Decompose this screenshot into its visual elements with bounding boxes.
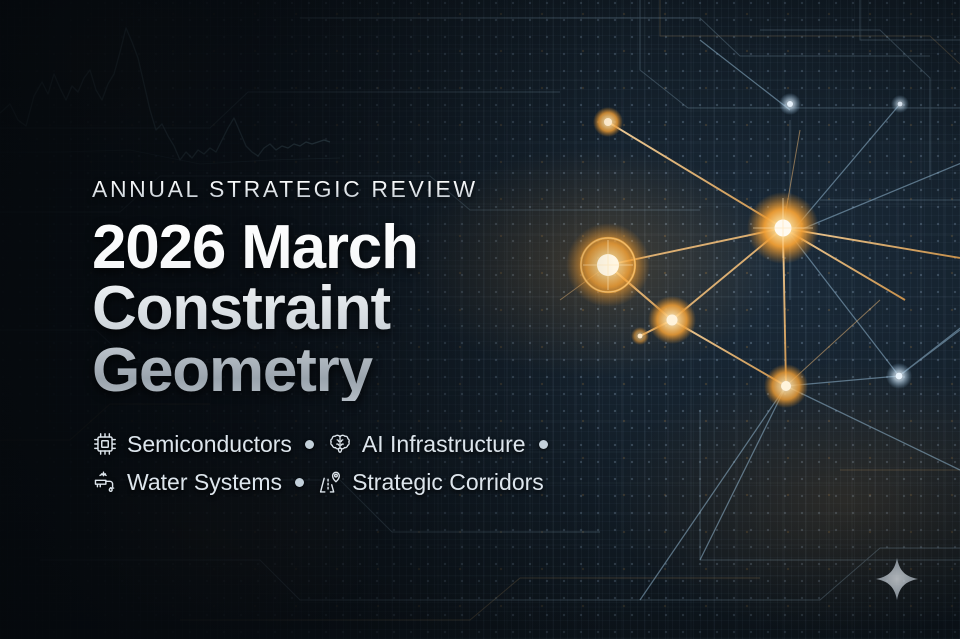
microchip-icon [92, 431, 118, 457]
road-pin-icon [317, 469, 343, 495]
faucet-icon [92, 469, 118, 495]
brain-icon [327, 431, 353, 457]
topic-label: Strategic Corridors [352, 471, 544, 494]
topic-tag-ai-infrastructure[interactable]: AI Infrastructure [327, 431, 526, 457]
topic-label: Semiconductors [127, 433, 292, 456]
topic-tag-water-systems[interactable]: Water Systems [92, 469, 282, 495]
eyebrow-label: ANNUAL STRATEGIC REVIEW [92, 178, 652, 201]
four-point-star-icon [874, 556, 920, 602]
topic-label: Water Systems [127, 471, 282, 494]
topic-tag-semiconductors[interactable]: Semiconductors [92, 431, 292, 457]
slide-canvas: ANNUAL STRATEGIC REVIEW 2026 March Const… [0, 0, 960, 639]
topic-separator-2 [539, 440, 548, 449]
topic-label: AI Infrastructure [362, 433, 526, 456]
slide-content: ANNUAL STRATEGIC REVIEW 2026 March Const… [92, 178, 652, 495]
title-line-1: 2026 March [92, 217, 652, 278]
title-line-3: Geometry [92, 340, 652, 401]
page-title: 2026 March Constraint Geometry [92, 217, 652, 401]
topic-separator-1 [305, 440, 314, 449]
title-line-2: Constraint [92, 278, 652, 339]
topic-tag-strategic-corridors[interactable]: Strategic Corridors [317, 469, 544, 495]
topic-tag-list: Semiconductors AI Infrastructure [92, 431, 652, 495]
topic-separator-3 [295, 478, 304, 487]
